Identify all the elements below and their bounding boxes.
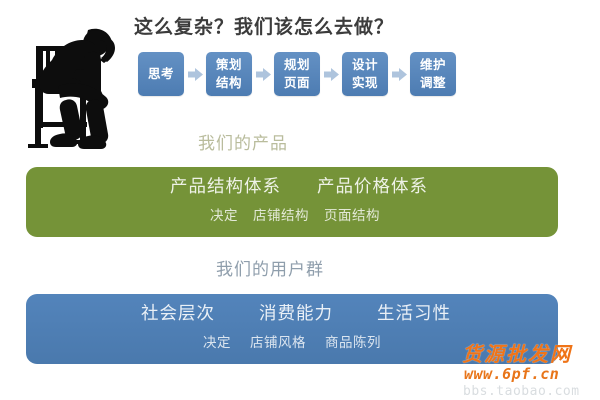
panel-users-sub-item-1: 决定 xyxy=(203,331,231,351)
panel-product-main-item-1: 产品结构体系 xyxy=(170,176,281,199)
panel-product: 产品结构体系 产品价格体系 决定 店铺结构 页面结构 xyxy=(26,167,558,237)
panel-users-sub-item-3: 商品陈列 xyxy=(325,331,381,351)
flow-arrow-1-icon xyxy=(184,64,206,84)
panel-product-sub-item-1: 决定 xyxy=(210,204,238,224)
watermark-brand: 货源批发网 xyxy=(462,344,596,364)
watermark-url: www.6pf.cn xyxy=(464,367,596,382)
flow-step-4-line1: 设计 xyxy=(352,56,378,74)
section-heading-users: 我们的用户群 xyxy=(216,255,324,280)
flow-arrow-2-icon xyxy=(252,64,274,84)
flow-step-3-line1: 规划 xyxy=(284,56,310,74)
flow-step-4-line2: 实现 xyxy=(352,74,378,92)
flow-step-1[interactable]: 思考 xyxy=(138,52,184,96)
panel-product-main-row: 产品结构体系 产品价格体系 xyxy=(26,176,558,199)
thinker-silhouette-icon xyxy=(14,16,132,156)
panel-users-main-item-3: 生活习性 xyxy=(377,303,451,326)
panel-users-main-row: 社会层次 消费能力 生活习性 xyxy=(26,303,558,326)
flow-step-3-line2: 页面 xyxy=(284,74,310,92)
slide-canvas: 这么复杂？我们该怎么去做？ 思考 策划 结构 规划 页面 设计 实现 xyxy=(0,0,600,400)
process-flow: 思考 策划 结构 规划 页面 设计 实现 维护 调整 xyxy=(138,52,456,96)
panel-users-main-item-2: 消费能力 xyxy=(259,303,333,326)
panel-product-sub-row: 决定 店铺结构 页面结构 xyxy=(26,204,558,224)
flow-step-5[interactable]: 维护 调整 xyxy=(410,52,456,96)
panel-users-sub-item-2: 店铺风格 xyxy=(250,331,306,351)
panel-product-sub-item-2: 店铺结构 xyxy=(253,204,309,224)
flow-step-5-line2: 调整 xyxy=(420,74,446,92)
flow-arrow-4-icon xyxy=(388,64,410,84)
flow-step-2-line2: 结构 xyxy=(216,74,242,92)
watermark-faint-source: bbs.taobao.com xyxy=(463,385,596,398)
flow-step-3[interactable]: 规划 页面 xyxy=(274,52,320,96)
flow-step-4[interactable]: 设计 实现 xyxy=(342,52,388,96)
flow-arrow-3-icon xyxy=(320,64,342,84)
flow-step-1-line1: 思考 xyxy=(148,65,174,83)
panel-product-sub-item-3: 页面结构 xyxy=(324,204,380,224)
flow-step-2[interactable]: 策划 结构 xyxy=(206,52,252,96)
panel-users-main-item-1: 社会层次 xyxy=(141,303,215,326)
watermark: 货源批发网 www.6pf.cn bbs.taobao.com xyxy=(462,344,596,398)
slide-headline: 这么复杂？我们该怎么去做？ xyxy=(134,12,394,39)
flow-step-5-line1: 维护 xyxy=(420,56,446,74)
flow-step-2-line1: 策划 xyxy=(216,56,242,74)
section-heading-product: 我们的产品 xyxy=(198,129,288,154)
panel-product-main-item-2: 产品价格体系 xyxy=(317,176,428,199)
